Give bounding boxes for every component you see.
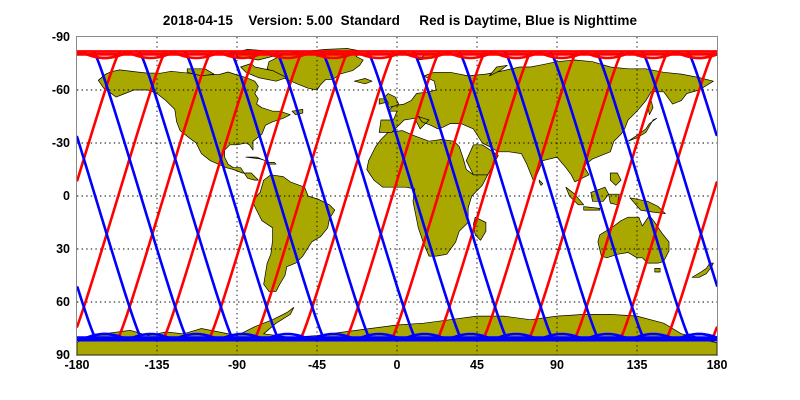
landmass-philippines [610, 173, 621, 185]
x-tick-label: 90 [550, 358, 564, 372]
ground-track-daytime [300, 53, 394, 340]
landmass-tasmania [655, 268, 660, 272]
ground-track-nighttime [688, 53, 716, 135]
plot-canvas [77, 37, 717, 355]
x-tick-label: -180 [64, 358, 89, 372]
figure-title: 2018-04-15 Version: 5.00 Standard Red is… [0, 13, 800, 28]
landmass-india-sri [539, 180, 543, 185]
landmass-cuba [246, 157, 266, 161]
y-tick-label: -90 [18, 30, 70, 44]
y-tick-label: 60 [18, 295, 70, 309]
landmass-java [584, 207, 600, 211]
ground-track-figure: 2018-04-15 Version: 5.00 Standard Red is… [0, 0, 800, 400]
x-tick-label: -90 [228, 358, 246, 372]
x-tick-label: 45 [470, 358, 484, 372]
y-tick-label: 30 [18, 242, 70, 256]
y-tick-label: -30 [18, 136, 70, 150]
landmass-iceland [354, 79, 372, 84]
x-tick-label: 135 [627, 358, 648, 372]
x-tick-label: 0 [394, 358, 401, 372]
x-tick-label: -135 [144, 358, 169, 372]
x-tick-label: 180 [707, 358, 728, 372]
x-tick-label: -45 [308, 358, 326, 372]
ground-track-nighttime [322, 53, 416, 340]
plot-area [76, 36, 718, 356]
y-tick-label: 90 [18, 348, 70, 362]
y-tick-label: -60 [18, 83, 70, 97]
y-tick-label: 0 [18, 189, 70, 203]
map-and-tracks-svg [77, 37, 717, 355]
